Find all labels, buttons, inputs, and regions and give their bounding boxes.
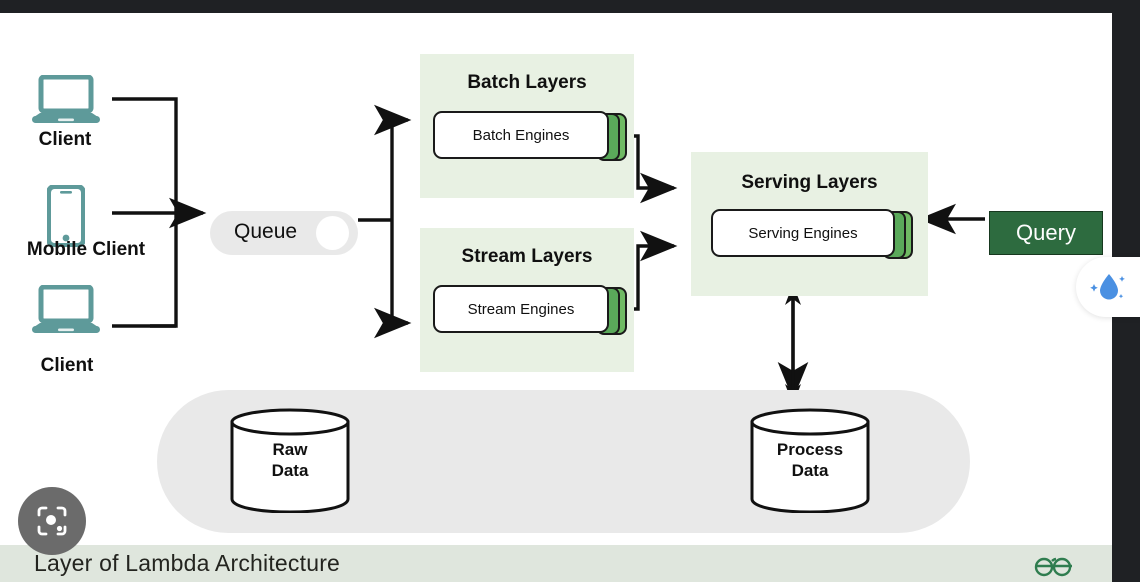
process-data-label: Process Data <box>750 439 870 482</box>
raw-data-cylinder: Raw Data <box>230 408 350 518</box>
client-label-1: Client <box>0 129 130 151</box>
stream-layers-panel: Stream Layers Stream Engines <box>420 228 634 372</box>
serving-engines-label: Serving Engines <box>748 225 857 242</box>
stream-engines-card: Stream Engines <box>433 285 625 333</box>
google-lens-button[interactable] <box>18 487 86 555</box>
queue-knob <box>316 216 349 250</box>
geeksforgeeks-logo-icon <box>1031 555 1077 577</box>
google-lens-icon <box>35 504 69 538</box>
query-label: Query <box>1016 220 1076 246</box>
laptop-icon <box>32 75 100 132</box>
water-droplet-icon <box>1088 268 1128 306</box>
serving-layers-title: Serving Layers <box>691 172 928 194</box>
serving-engines-card: Serving Engines <box>711 209 911 257</box>
batch-layers-title: Batch Layers <box>420 72 634 94</box>
footer-bar: Layer of Lambda Architecture <box>0 545 1112 582</box>
stream-layers-title: Stream Layers <box>420 246 634 268</box>
client-label-3: Client <box>0 355 134 377</box>
process-data-cylinder: Process Data <box>750 408 870 518</box>
diagram-canvas: Client Mobile Client Client Queue <box>0 13 1112 582</box>
batch-layers-panel: Batch Layers Batch Engines <box>420 54 634 198</box>
laptop-icon <box>32 285 100 342</box>
client-label-2: Mobile Client <box>0 239 172 261</box>
raw-data-label: Raw Data <box>230 439 350 482</box>
droplet-button[interactable] <box>1076 257 1140 317</box>
batch-engines-card: Batch Engines <box>433 111 625 159</box>
stream-engines-label: Stream Engines <box>468 301 575 318</box>
serving-layers-panel: Serving Layers Serving Engines <box>691 152 928 296</box>
batch-engines-label: Batch Engines <box>473 127 570 144</box>
queue-label: Queue <box>234 220 297 244</box>
query-node: Query <box>989 211 1103 255</box>
screenshot-root: Client Mobile Client Client Queue <box>0 0 1140 582</box>
page-title: Layer of Lambda Architecture <box>34 550 340 577</box>
top-chrome-bar <box>0 0 1140 13</box>
queue-node: Queue <box>210 211 358 255</box>
